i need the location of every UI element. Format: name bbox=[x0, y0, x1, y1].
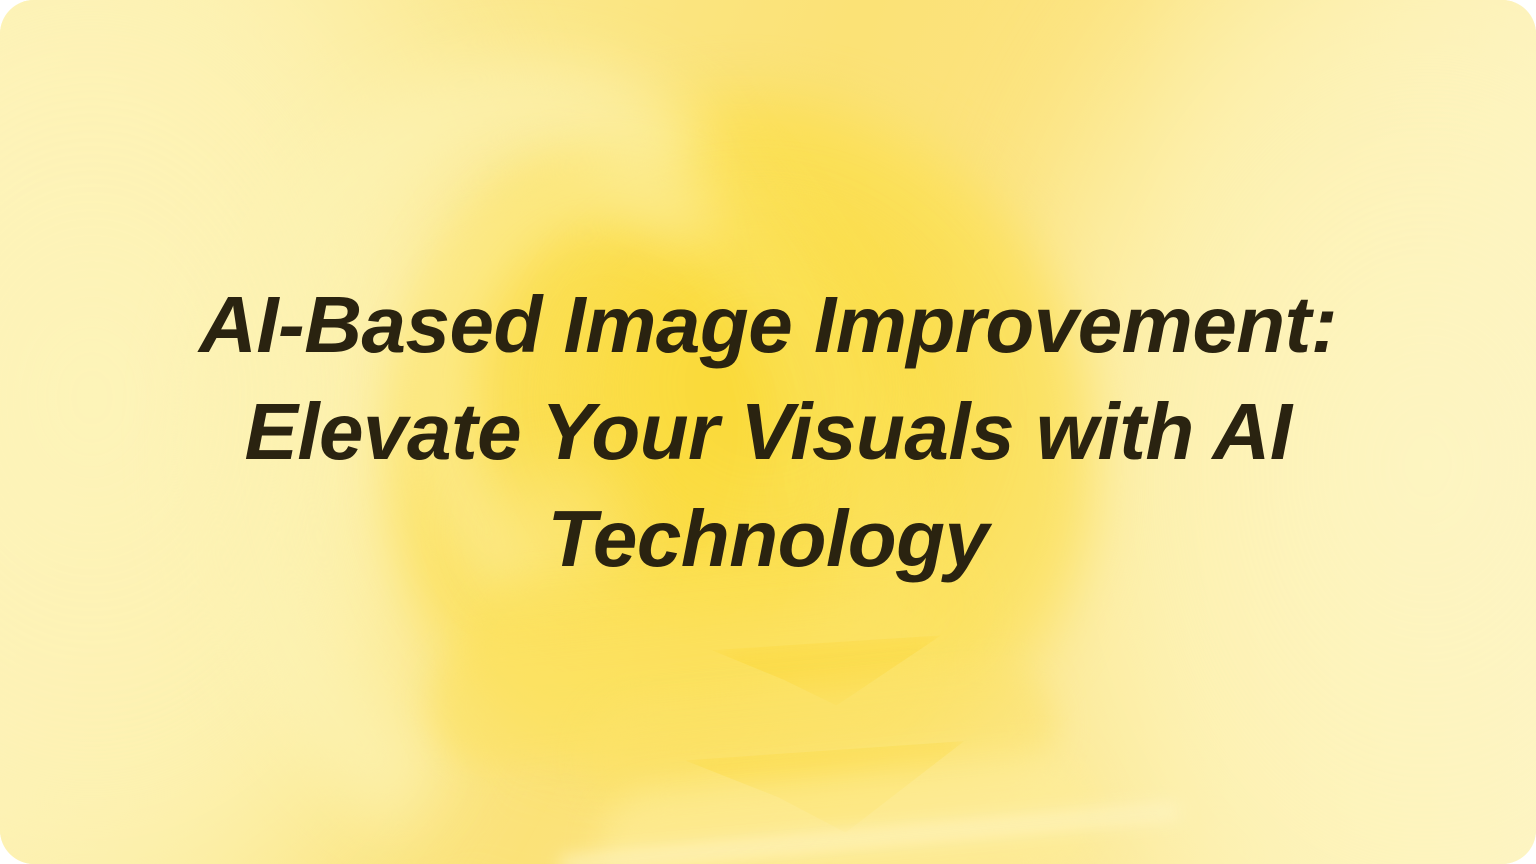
thread-chevron-2 bbox=[685, 736, 971, 846]
screw-base-bar-2 bbox=[579, 660, 1060, 823]
screw-base-bar-3 bbox=[593, 746, 1103, 864]
screw-base-bar-1 bbox=[425, 600, 935, 771]
hero-banner: AI-Based Image Improvement: Elevate Your… bbox=[0, 0, 1536, 864]
thread-chevron-1 bbox=[712, 630, 947, 716]
page-title: AI-Based Image Improvement: Elevate Your… bbox=[0, 271, 1536, 593]
base-highlight-streak bbox=[560, 803, 1179, 864]
